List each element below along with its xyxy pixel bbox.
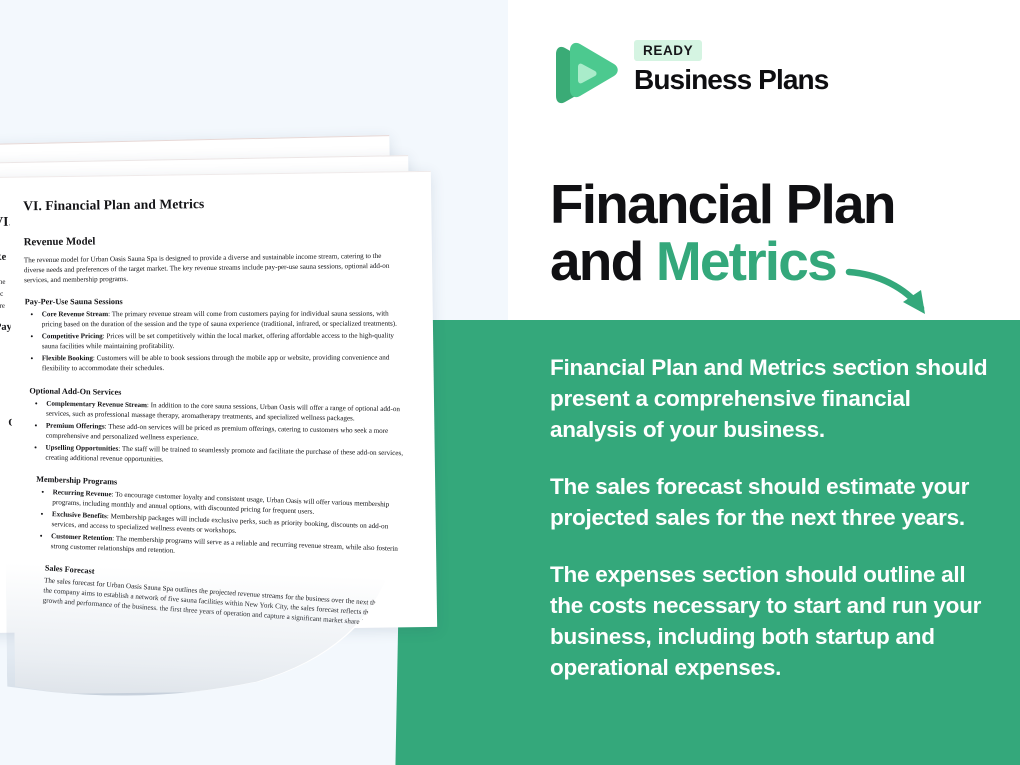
document-page-front-wrap: VI. Financial Plan and Metrics Revenue M… <box>6 172 436 712</box>
bullet-term: Upselling Opportunities <box>45 443 118 452</box>
back-page-peek-3: stre <box>0 302 5 310</box>
document-bullet-list: Recurring Revenue: To encourage customer… <box>34 487 412 565</box>
bullet-term: Exclusive Benefits <box>52 510 107 520</box>
bullet-term: Flexible Booking <box>42 355 93 363</box>
brand-name: Business Plans <box>634 65 828 94</box>
page-title-line-2-prefix: and <box>550 230 656 292</box>
document-bullet: Premium Offerings: These add-on services… <box>46 420 405 446</box>
document-bullet: Flexible Booking: Customers will be able… <box>42 353 401 374</box>
back-page-peek-2: inc <box>0 290 3 298</box>
document-bullet: Complementary Revenue Stream: In additio… <box>46 398 405 424</box>
document-page-front: VI. Financial Plan and Metrics Revenue M… <box>3 170 421 695</box>
document-section-heading: Revenue Model <box>24 232 400 249</box>
document-bullet: Upselling Opportunities: The staff will … <box>45 442 404 468</box>
page-title-line-1: Financial Plan <box>550 173 895 235</box>
panel-paragraph-2: The sales forecast should estimate your … <box>550 471 996 533</box>
bullet-term: Recurring Revenue <box>53 488 112 498</box>
document-group-0: Pay-Per-Use Sauna Sessions Core Revenue … <box>25 297 401 374</box>
panel-paragraph-1: Financial Plan and Metrics section shoul… <box>550 352 996 445</box>
brand-logo[interactable]: READY Business Plans <box>548 36 848 116</box>
bullet-term: Core Revenue Stream <box>42 310 108 318</box>
poster-canvas: VI. Re The inc stre Pay Op M VI. Financi… <box>0 0 1020 765</box>
document-title: VI. Financial Plan and Metrics <box>23 194 399 215</box>
document-content: VI. Financial Plan and Metrics Revenue M… <box>3 170 421 695</box>
bullet-text: : Customers will be able to book session… <box>42 354 390 373</box>
brand-logo-text: READY Business Plans <box>634 40 828 94</box>
document-group-2: Membership Programs Recurring Revenue: T… <box>34 475 413 565</box>
bullet-term: Competitive Pricing <box>42 332 103 340</box>
bullet-term: Complementary Revenue Stream <box>46 399 147 409</box>
document-group-1: Optional Add-On Services Complementary R… <box>28 386 405 468</box>
page-title-accent: Metrics <box>656 230 836 292</box>
play-triangle-logo-icon <box>548 38 622 112</box>
panel-body-copy: Financial Plan and Metrics section shoul… <box>550 352 996 683</box>
document-bullet-list: Core Revenue Stream: The primary revenue… <box>25 309 401 374</box>
document-bullet-list: Complementary Revenue Stream: In additio… <box>28 398 405 468</box>
document-group-heading: Pay-Per-Use Sauna Sessions <box>25 297 401 307</box>
document-intro-paragraph: The revenue model for Urban Oasis Sauna … <box>24 251 400 286</box>
curved-arrow-icon <box>845 262 955 332</box>
ready-badge: READY <box>634 40 702 61</box>
bullet-term: Premium Offerings <box>46 421 105 430</box>
back-page-peek-1: The <box>0 278 6 286</box>
document-bullet: Competitive Pricing: Prices will be set … <box>42 331 401 352</box>
panel-paragraph-3: The expenses section should outline all … <box>550 559 996 683</box>
document-bullet: Core Revenue Stream: The primary revenue… <box>42 309 401 330</box>
bullet-term: Customer Retention <box>51 532 112 542</box>
document-forecast-section: Sales Forecast The sales forecast for Ur… <box>42 564 420 632</box>
